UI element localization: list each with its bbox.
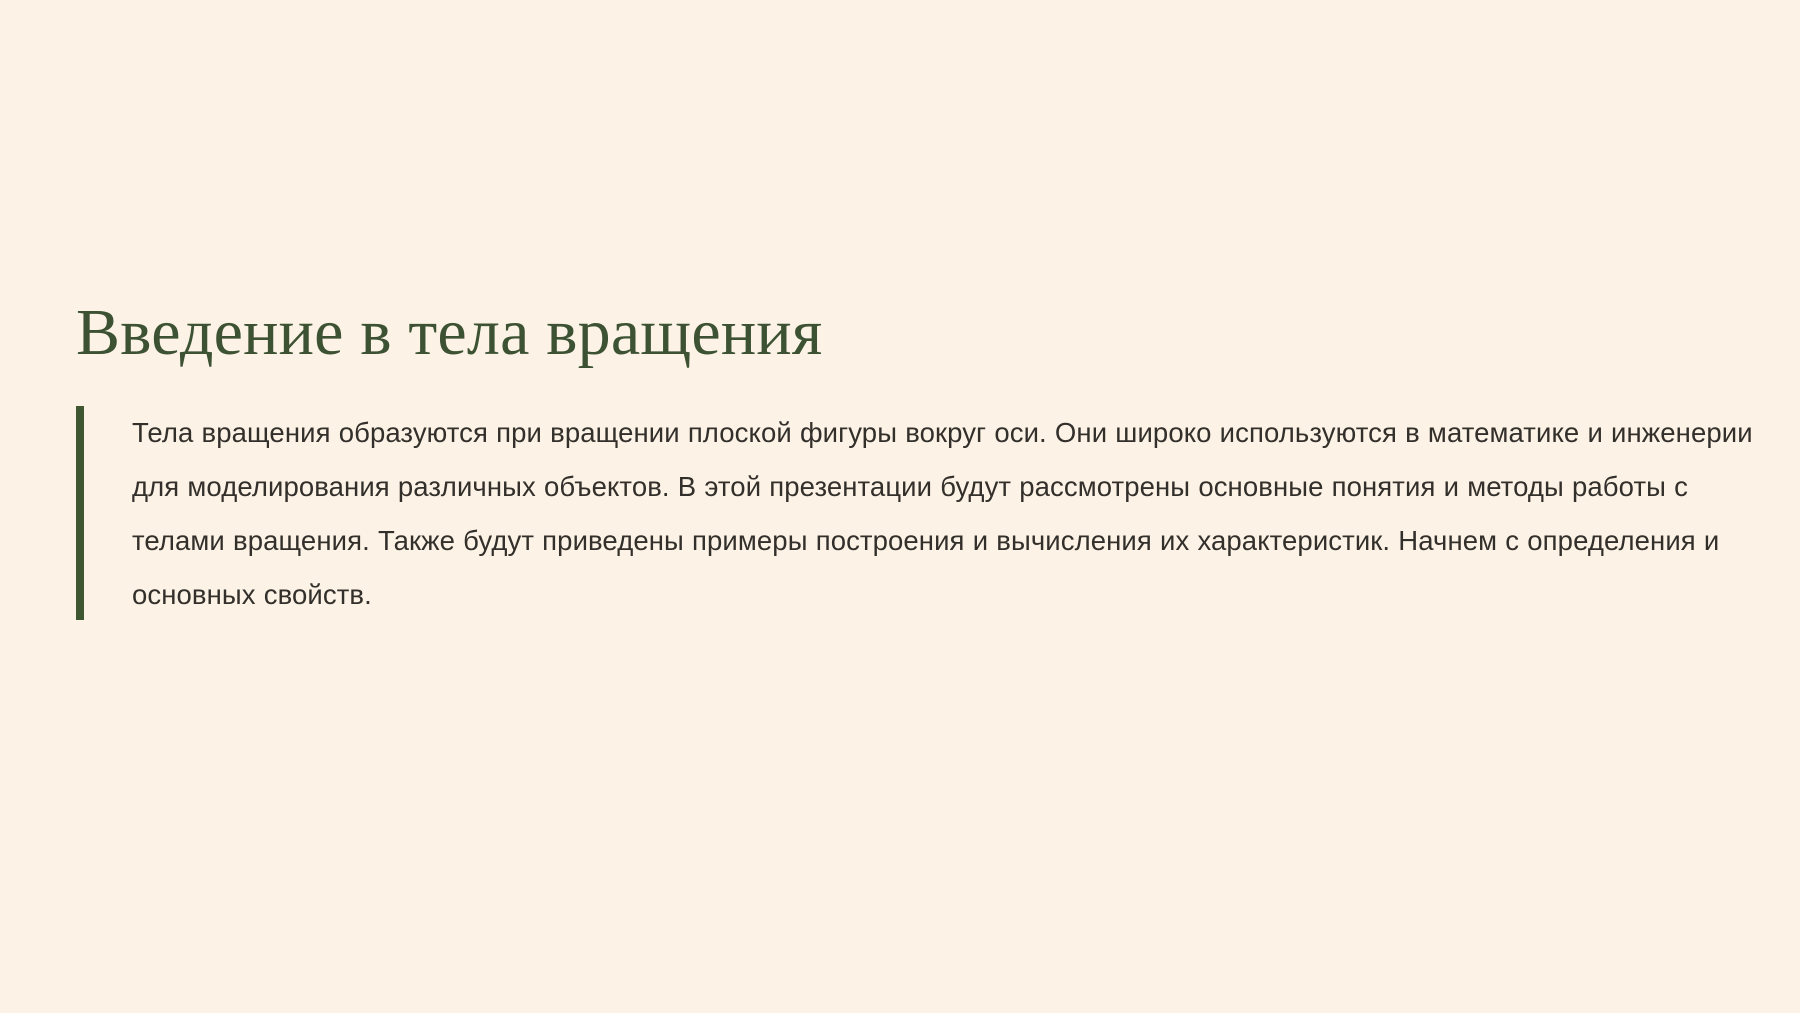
body-block: Тела вращения образуются при вращении пл… — [76, 406, 1756, 622]
accent-bar — [76, 406, 84, 620]
slide-content: Введение в тела вращения Тела вращения о… — [76, 296, 1756, 622]
page-title: Введение в тела вращения — [76, 296, 1756, 370]
body-paragraph: Тела вращения образуются при вращении пл… — [132, 406, 1756, 622]
presentation-slide: Введение в тела вращения Тела вращения о… — [0, 0, 1800, 1013]
